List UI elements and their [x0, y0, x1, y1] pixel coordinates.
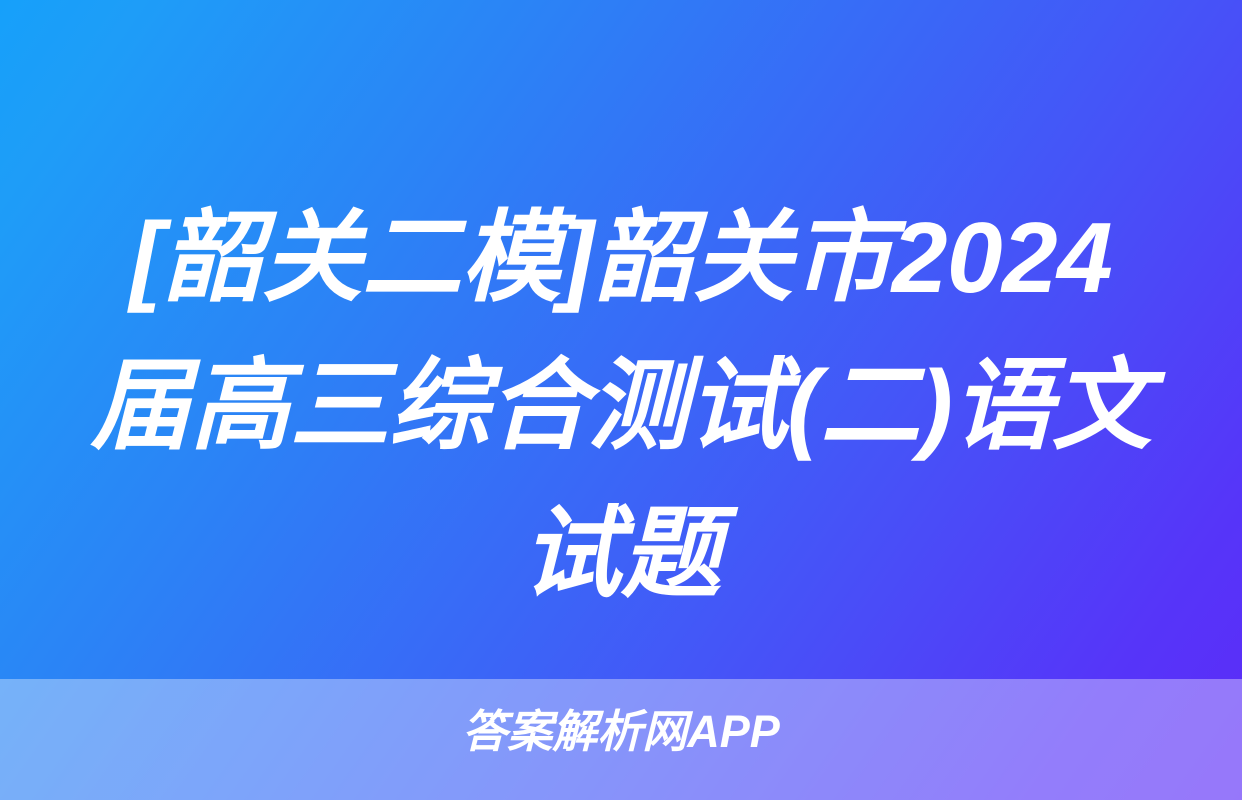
title-line-1: [韶关二模]韶关市2024 [52, 184, 1190, 332]
page-title: [韶关二模]韶关市2024 届高三综合测试(二)语文 试题 [0, 184, 1242, 628]
app-brand-label: 答案解析网APP [462, 707, 780, 757]
title-line-3: 试题 [52, 480, 1190, 628]
footer-brand-band: 答案解析网APP [0, 679, 1242, 800]
title-line-2: 届高三综合测试(二)语文 [52, 332, 1190, 480]
exam-poster-card: [韶关二模]韶关市2024 届高三综合测试(二)语文 试题 答案解析网APP [0, 0, 1242, 800]
